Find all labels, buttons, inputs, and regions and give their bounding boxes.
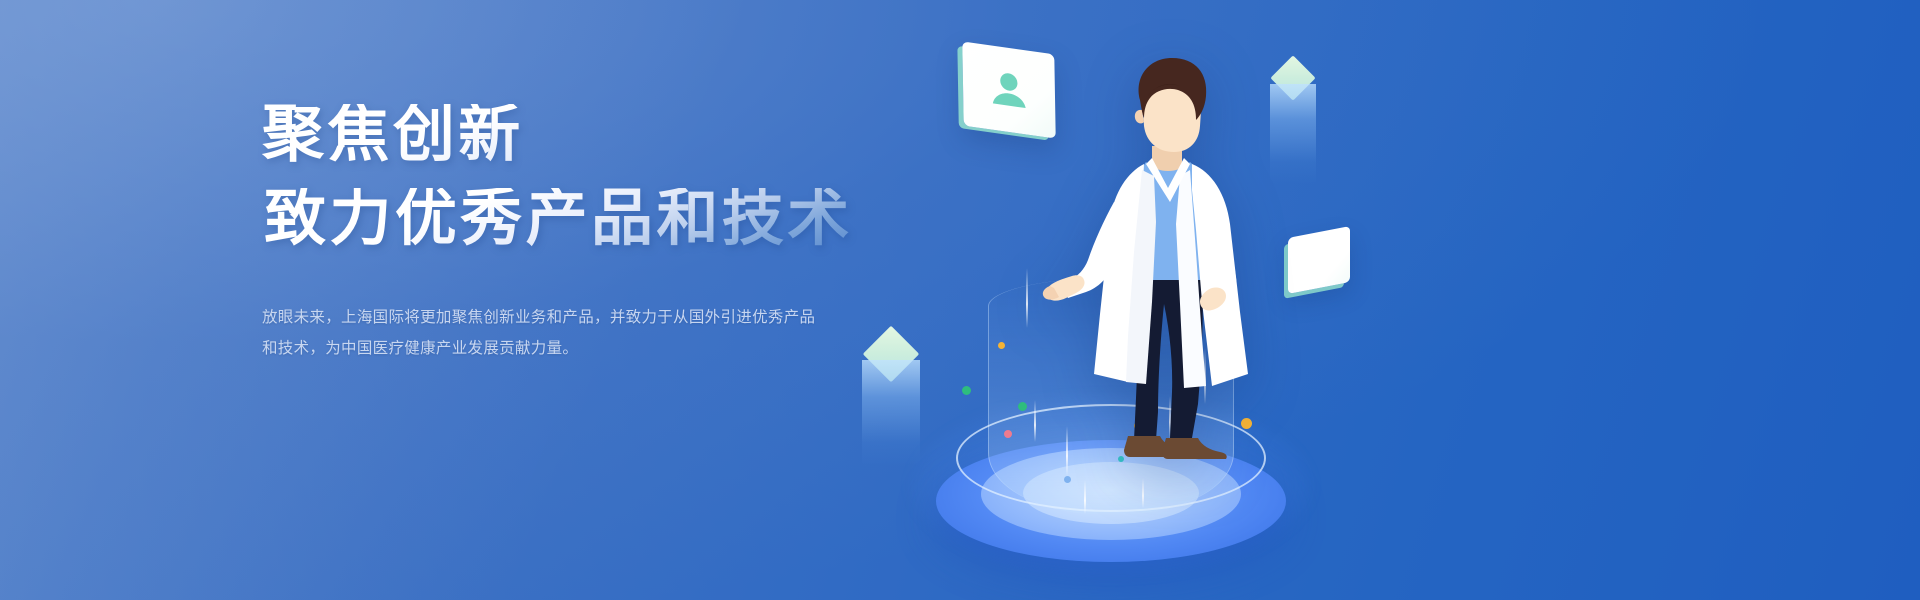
- particle-dot: [998, 342, 1005, 349]
- particle-dot: [1004, 430, 1012, 438]
- hero-copy: 聚焦创新 致力优秀产品和技术 放眼未来，上海国际将更加聚焦创新业务和产品，并致力…: [262, 104, 902, 364]
- illustration-stage: [930, 0, 1920, 600]
- hero-banner: 聚焦创新 致力优秀产品和技术 放眼未来，上海国际将更加聚焦创新业务和产品，并致力…: [0, 0, 1920, 600]
- bar-body: [862, 360, 920, 466]
- particle-dot: [1064, 476, 1071, 483]
- doctor-illustration: [1042, 52, 1302, 472]
- hero-subtitle: 放眼未来，上海国际将更加聚焦创新业务和产品，并致力于从国外引进优秀产品 和技术，…: [262, 302, 862, 364]
- light-streak: [1142, 478, 1144, 508]
- headline-line-2: 致力优秀产品和技术: [264, 188, 902, 250]
- particle-dot: [962, 386, 971, 395]
- light-streak: [1034, 400, 1036, 442]
- particle-dot: [1018, 402, 1027, 411]
- light-streak: [1084, 480, 1086, 514]
- isometric-bar-left-icon: [862, 334, 920, 466]
- subtitle-line-2: 和技术，为中国医疗健康产业发展贡献力量。: [262, 333, 862, 364]
- light-streak: [1026, 268, 1028, 328]
- subtitle-line-1: 放眼未来，上海国际将更加聚焦创新业务和产品，并致力于从国外引进优秀产品: [262, 302, 862, 333]
- headline-line-1: 聚焦创新: [262, 104, 902, 166]
